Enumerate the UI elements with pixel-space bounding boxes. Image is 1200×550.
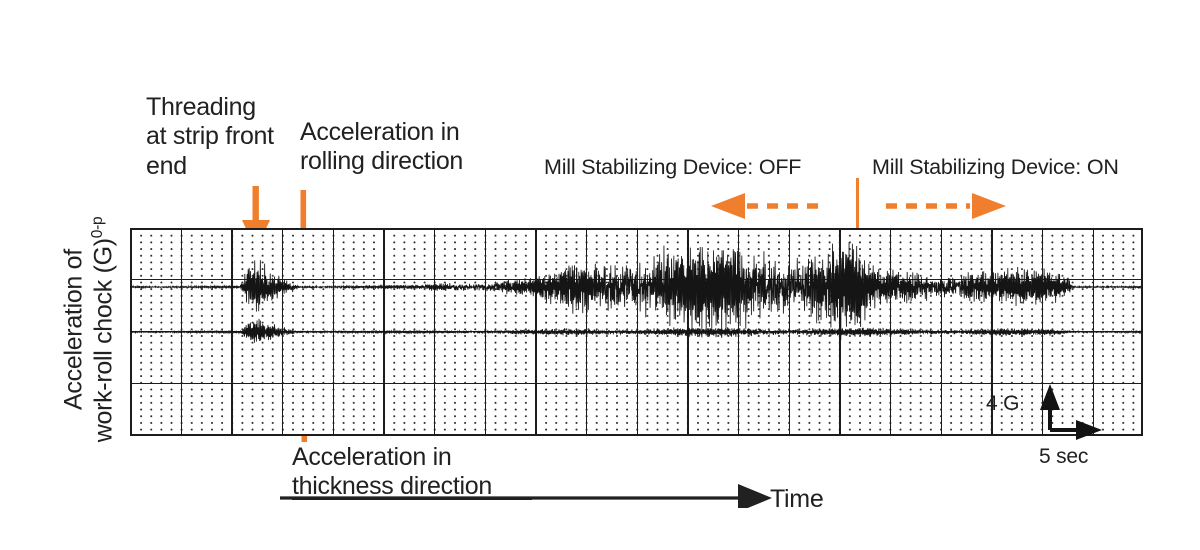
y-axis-label-line1: Acceleration of bbox=[60, 249, 88, 410]
trace-thickness-direction bbox=[130, 319, 1142, 343]
scale-marker-icon bbox=[1030, 380, 1120, 442]
y-axis-label: Acceleration of work-roll chock (G)0-p bbox=[60, 165, 119, 495]
scale-marker-vertical-label: 4 G bbox=[986, 392, 1019, 417]
figure-root: Acceleration of work-roll chock (G)0-p T… bbox=[0, 0, 1200, 550]
annotation-msd-off: Mill Stabilizing Device: OFF bbox=[544, 155, 801, 180]
annotation-msd-on: Mill Stabilizing Device: ON bbox=[872, 155, 1119, 180]
annotation-rolling-direction: Acceleration in rolling direction bbox=[300, 118, 463, 177]
annotation-thickness-line1: Acceleration in bbox=[292, 443, 451, 471]
y-axis-label-superscript: 0-p bbox=[89, 217, 106, 239]
msd-on-range-arrow-icon bbox=[884, 192, 1008, 220]
msd-off-range-arrow-icon bbox=[711, 192, 825, 220]
y-axis-label-line2: work-roll chock (G) bbox=[89, 238, 117, 442]
time-axis-arrow-icon bbox=[280, 478, 780, 508]
x-axis-label: Time bbox=[770, 485, 823, 514]
annotation-threading: Threading at strip front end bbox=[146, 93, 274, 181]
trace-rolling-direction bbox=[130, 240, 1142, 340]
scale-marker-horizontal-label: 5 sec bbox=[1039, 445, 1088, 470]
